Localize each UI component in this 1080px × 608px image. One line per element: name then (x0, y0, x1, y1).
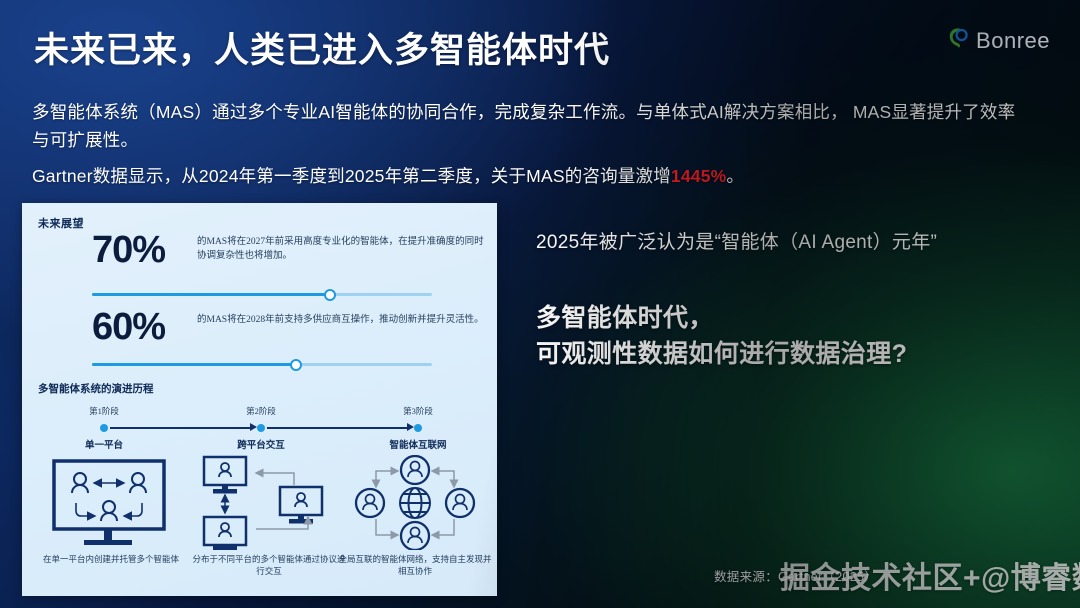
timeline-label-0: 单一平台 (85, 437, 123, 451)
bonree-logo: Bonree (946, 26, 1050, 55)
gartner-paragraph: Gartner数据显示，从2024年第一季度到2025年第二季度，关于MAS的咨… (32, 162, 1032, 190)
timeline-dot-2 (414, 424, 422, 432)
stat-description-0: 的MAS将在2027年前采用高度专业化的智能体，在提升准确度的同时协调复杂性也将… (197, 235, 487, 263)
right-subtitle: 2025年被广泛认为是“智能体（AI Agent）元年” (536, 227, 937, 254)
page-title: 未来已来，人类已进入多智能体时代 (34, 22, 610, 73)
cross-platform-diagram-icon (194, 455, 344, 550)
card-title: 未来展望 (38, 215, 84, 231)
timeline-label-1: 跨平台交互 (237, 437, 285, 451)
agent-internet-diagram-icon (340, 455, 490, 550)
timeline-arrow-1 (250, 423, 257, 431)
right-question-line-2: 可观测性数据如何进行数据治理? (536, 336, 907, 372)
diagram-caption-2: 全局互联的智能体网络，支持自主发现并相互协作 (335, 553, 495, 577)
timeline: 第1阶段 第2阶段 第3阶段 单一平台 跨平台交互 智能体互联网 (22, 399, 497, 447)
diagram-caption-0: 在单一平台内创建并托管多个智能体 (31, 553, 191, 565)
gartner-text-prefix: Gartner数据显示，从2024年第一季度到2025年第二季度，关于MAS的咨… (32, 166, 671, 186)
timeline-dot-1 (257, 424, 265, 432)
bonree-leaf-logo-icon (946, 26, 970, 55)
watermark: 掘金技术社区+@博睿数据 (780, 553, 1080, 597)
stat-percent-0: 70% (92, 231, 165, 269)
intro-paragraph: 多智能体系统（MAS）通过多个专业AI智能体的协同合作，完成复杂工作流。与单体式… (32, 98, 1032, 154)
right-question: 多智能体时代， 可观测性数据如何进行数据治理? (536, 300, 907, 372)
stat-slider-1[interactable] (92, 363, 432, 366)
timeline-arrow-2 (407, 423, 414, 431)
timeline-connector-1 (110, 427, 252, 429)
slide-root: 未来已来，人类已进入多智能体时代 Bonree 多智能体系统（MAS）通过多个专… (0, 0, 1080, 608)
stat-slider-0[interactable] (92, 293, 432, 296)
logo-label: Bonree (976, 28, 1050, 54)
slider-knob-0[interactable] (324, 289, 336, 301)
gartner-text-suffix: 。 (726, 166, 744, 186)
timeline-stage-1: 第2阶段 (246, 405, 276, 417)
future-outlook-card: 未来展望 70% 的MAS将在2027年前采用高度专业化的智能体，在提升准确度的… (22, 203, 497, 596)
gartner-growth-value: 1445% (671, 166, 727, 186)
slider-fill-1 (92, 363, 296, 366)
timeline-connector-2 (267, 427, 409, 429)
stat-description-1: 的MAS将在2028年前支持多供应商互操作，推动创新并提升灵活性。 (197, 313, 487, 327)
stat-percent-1: 60% (92, 308, 165, 346)
timeline-stage-2: 第3阶段 (403, 405, 433, 417)
slider-fill-0 (92, 293, 330, 296)
timeline-title: 多智能体系统的演进历程 (38, 381, 154, 396)
timeline-dot-0 (100, 424, 108, 432)
single-platform-diagram-icon (36, 455, 186, 550)
diagram-caption-1: 分布于不同平台的多个智能体通过协议进行交互 (189, 553, 349, 577)
timeline-label-2: 智能体互联网 (389, 437, 446, 451)
slider-knob-1[interactable] (290, 359, 302, 371)
right-question-line-1: 多智能体时代， (536, 300, 907, 336)
timeline-stage-0: 第1阶段 (89, 405, 119, 417)
